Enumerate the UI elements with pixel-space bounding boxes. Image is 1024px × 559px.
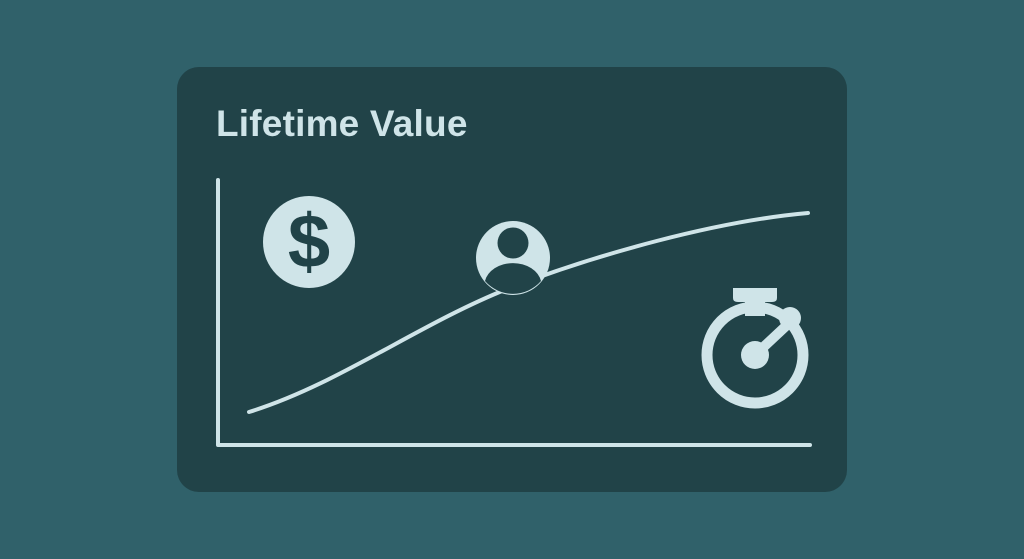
avatar-head xyxy=(498,228,529,259)
lifetime-value-card: Lifetime Value $ xyxy=(177,67,847,492)
person-avatar-icon xyxy=(476,221,550,295)
dollar-coin-icon: $ xyxy=(263,196,355,288)
stopwatch-icon xyxy=(707,288,803,403)
lifetime-value-chart: $ xyxy=(177,67,847,492)
dollar-glyph: $ xyxy=(288,200,330,285)
screenshot-canvas: Lifetime Value $ xyxy=(0,0,1024,559)
stopwatch-hand xyxy=(755,326,786,355)
